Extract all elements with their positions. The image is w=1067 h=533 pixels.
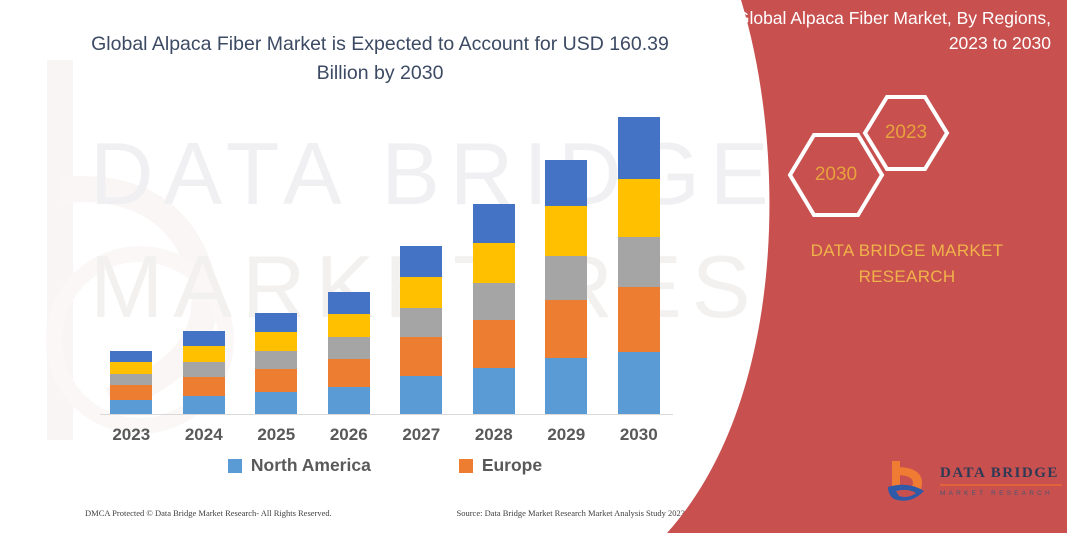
legend-label: Europe (482, 455, 542, 476)
bar-stack (473, 204, 515, 414)
footer-source: Source: Data Bridge Market Research Mark… (456, 508, 685, 518)
bar-segment (545, 358, 587, 414)
bar-segment (618, 179, 660, 237)
bar-column (530, 120, 602, 414)
x-axis-tick-label: 2024 (168, 425, 240, 445)
logo-divider (940, 484, 1062, 486)
bar-column (240, 120, 312, 414)
panel-title: Global Alpaca Fiber Market, By Regions, … (699, 6, 1051, 57)
x-axis-tick-label: 2023 (95, 425, 167, 445)
bar-segment (400, 337, 442, 376)
bar-segment (618, 117, 660, 179)
bar-segment (400, 246, 442, 277)
bar-stack (183, 331, 225, 414)
bar-segment (255, 313, 297, 332)
chart-plot-area (95, 120, 675, 415)
x-axis-tick-label: 2025 (240, 425, 312, 445)
logo-sub-text: MARKET RESEARCH (940, 490, 1062, 497)
hexagon-2023-label: 2023 (862, 94, 950, 172)
bar-stack (400, 246, 442, 414)
bar-column (385, 120, 457, 414)
bar-stack (110, 351, 152, 414)
company-logo: DATA BRIDGE MARKET RESEARCH (882, 455, 1067, 513)
x-axis-tick-label: 2028 (458, 425, 530, 445)
bar-segment (110, 374, 152, 385)
bar-segment (255, 392, 297, 414)
bar-segment (255, 332, 297, 351)
bar-stack (328, 292, 370, 414)
bar-segment (183, 331, 225, 346)
bar-segment (183, 377, 225, 396)
bar-segment (328, 387, 370, 414)
bar-column (603, 120, 675, 414)
bar-segment (255, 351, 297, 369)
x-axis-tick-label: 2026 (313, 425, 385, 445)
logo-main-text: DATA BRIDGE (940, 465, 1062, 482)
legend-swatch-icon (459, 459, 473, 473)
bar-segment (618, 237, 660, 287)
logo-wordmark: DATA BRIDGE MARKET RESEARCH (940, 465, 1062, 497)
x-axis-labels: 20232024202520262027202820292030 (95, 425, 675, 445)
bar-segment (255, 369, 297, 392)
bar-segment (110, 351, 152, 362)
bar-segment (328, 314, 370, 337)
legend-item[interactable]: Europe (459, 455, 542, 476)
brand-line-2: RESEARCH (747, 264, 1067, 290)
x-axis-tick-label: 2027 (385, 425, 457, 445)
x-axis-tick-label: 2029 (530, 425, 602, 445)
footer: DMCA Protected © Data Bridge Market Rese… (85, 508, 685, 518)
bar-segment (618, 287, 660, 352)
bar-column (95, 120, 167, 414)
bar-stack (618, 117, 660, 414)
brand-line-1: DATA BRIDGE MARKET (747, 238, 1067, 264)
bar-segment (545, 300, 587, 358)
footer-copyright: DMCA Protected © Data Bridge Market Rese… (85, 508, 332, 518)
bar-column (313, 120, 385, 414)
bar-segment (545, 256, 587, 300)
legend-swatch-icon (228, 459, 242, 473)
bar-segment (328, 292, 370, 314)
right-panel: Global Alpaca Fiber Market, By Regions, … (667, 0, 1067, 533)
bar-segment (545, 160, 587, 206)
bar-segment (328, 359, 370, 387)
bar-segment (473, 368, 515, 414)
bar-stack (545, 160, 587, 414)
bar-segment (618, 352, 660, 414)
legend-label: North America (251, 455, 371, 476)
x-axis-tick-label: 2030 (603, 425, 675, 445)
x-axis-line (100, 414, 673, 415)
bar-segment (473, 320, 515, 368)
hexagon-group: 2030 2023 (777, 92, 1047, 217)
brand-name: DATA BRIDGE MARKET RESEARCH (747, 238, 1067, 289)
bar-stack (255, 313, 297, 414)
page-title: Global Alpaca Fiber Market is Expected t… (90, 30, 670, 89)
bar-column (458, 120, 530, 414)
bar-column (168, 120, 240, 414)
bar-segment (110, 400, 152, 414)
bar-segment (545, 206, 587, 256)
bar-segment (183, 346, 225, 362)
bar-group (95, 120, 675, 414)
bar-segment (110, 362, 152, 374)
bar-segment (400, 277, 442, 308)
bar-segment (400, 308, 442, 337)
chart-legend: North AmericaEurope (95, 455, 675, 476)
logo-bridge-icon (882, 457, 934, 509)
bar-segment (183, 362, 225, 377)
bar-segment (183, 396, 225, 414)
bar-segment (473, 243, 515, 283)
legend-item[interactable]: North America (228, 455, 371, 476)
bar-segment (400, 376, 442, 414)
bar-segment (110, 385, 152, 400)
bar-segment (473, 204, 515, 243)
bar-segment (473, 283, 515, 320)
bar-segment (328, 337, 370, 359)
infographic-slide: DATA BRIDGE MARKET RESEARCH Global Alpac… (0, 0, 1067, 533)
